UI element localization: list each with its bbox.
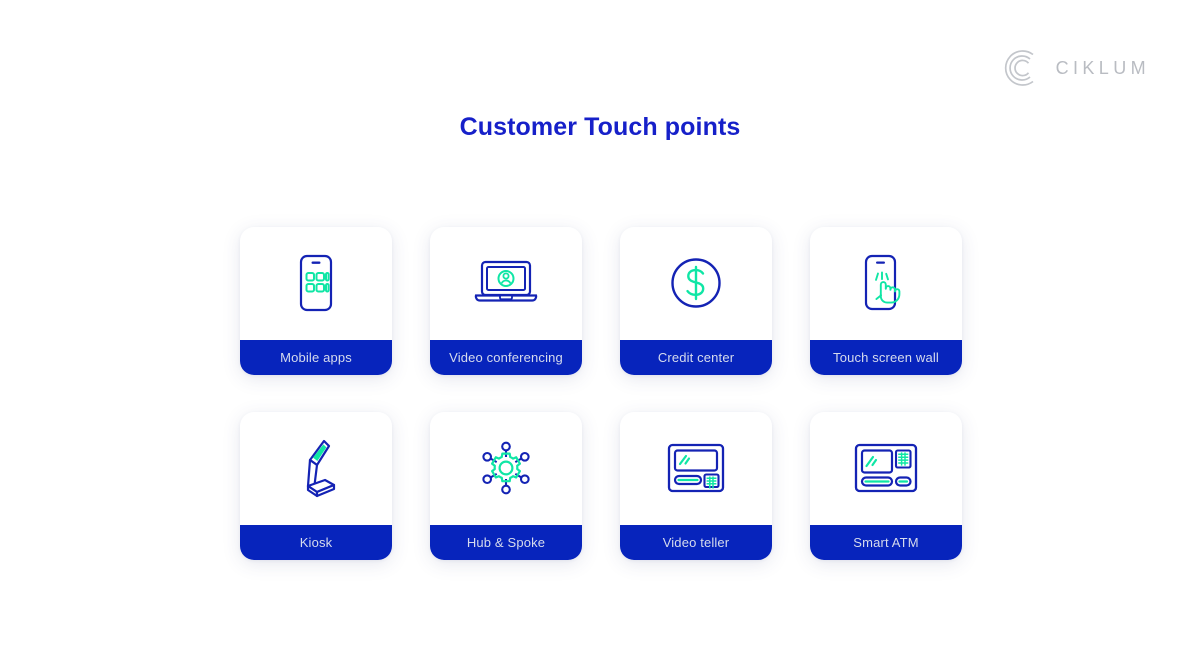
touchpoint-card-label: Video teller	[620, 525, 772, 560]
touchpoint-card-label: Hub & Spoke	[430, 525, 582, 560]
touchpoint-card-label: Touch screen wall	[810, 340, 962, 375]
touchpoint-card-label: Mobile apps	[240, 340, 392, 375]
touchpoint-card-hub-and-spoke[interactable]: Hub & Spoke	[430, 412, 582, 560]
touchpoint-card-kiosk[interactable]: Kiosk	[240, 412, 392, 560]
touchpoint-card-video-teller[interactable]: Video teller	[620, 412, 772, 560]
brand-name: CIKLUM	[1056, 58, 1150, 79]
touchpoint-card-mobile-apps[interactable]: Mobile apps	[240, 227, 392, 375]
touchpoint-card-credit-center[interactable]: Credit center	[620, 227, 772, 375]
brand-logo: CIKLUM	[1002, 48, 1150, 88]
touchpoint-card-label: Video conferencing	[430, 340, 582, 375]
touchpoint-card-label: Kiosk	[240, 525, 392, 560]
touchpoint-card-smart-atm[interactable]: Smart ATM	[810, 412, 962, 560]
touchpoint-card-video-conferencing[interactable]: Video conferencing	[430, 227, 582, 375]
smart-atm-icon	[810, 412, 962, 525]
touchpoint-card-grid: Mobile apps Video conferencing Cre	[240, 227, 961, 560]
dollar-circle-icon	[620, 227, 772, 340]
touchpoint-card-touch-screen-wall[interactable]: Touch screen wall	[810, 227, 962, 375]
kiosk-stand-icon	[240, 412, 392, 525]
mobile-phone-apps-icon	[240, 227, 392, 340]
touchpoint-card-label: Smart ATM	[810, 525, 962, 560]
ciklum-crescent-icon	[1002, 48, 1042, 88]
touchpoint-card-label: Credit center	[620, 340, 772, 375]
laptop-video-call-icon	[430, 227, 582, 340]
video-teller-machine-icon	[620, 412, 772, 525]
page-title: Customer Touch points	[0, 113, 1200, 142]
hub-and-spoke-gear-icon	[430, 412, 582, 525]
touch-screen-hand-icon	[810, 227, 962, 340]
